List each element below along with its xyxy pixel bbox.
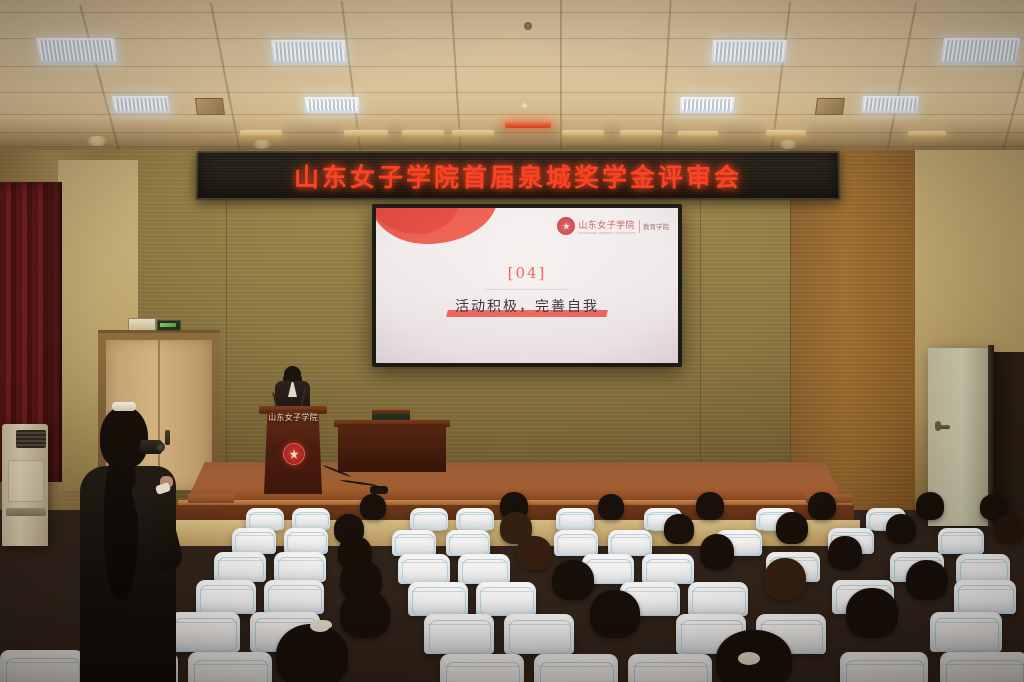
- sprinkler-head: [524, 22, 532, 30]
- slide-logo: 山东女子学院 SHANDONG WOMEN'S UNIVERSITY 教育学院: [557, 217, 669, 235]
- camera-operator: [78, 398, 182, 682]
- seat: [392, 530, 436, 556]
- ceiling-light-panel: [304, 97, 359, 113]
- seat: [232, 528, 276, 554]
- logo-org-name: 山东女子学院 SHANDONG WOMEN'S UNIVERSITY: [578, 218, 636, 235]
- logo-org-name-text: 山东女子学院: [578, 221, 634, 231]
- seat: [284, 528, 328, 554]
- attendee-head: [808, 492, 836, 520]
- logo-divider: [639, 220, 640, 233]
- seat: [534, 654, 618, 682]
- seat: [188, 652, 272, 682]
- ceiling-light-panel: [861, 96, 919, 113]
- attendee-head: [994, 514, 1024, 544]
- seat: [938, 528, 984, 554]
- attendee-head-foreground: [276, 624, 348, 682]
- ceiling: [0, 0, 1024, 158]
- ceiling-air-vent: [195, 98, 225, 115]
- attendee-head: [846, 588, 898, 638]
- seat: [440, 654, 524, 682]
- camera-operator-hair-tie: [112, 402, 136, 411]
- hair-accessory: [738, 652, 760, 665]
- ceiling-light-panel: [36, 38, 118, 63]
- seat: [476, 582, 536, 616]
- auditorium-scene: 山东女子学院首届泉城奖学金评审会 山东女子学院 SHANDONG WOMEN'S…: [0, 0, 1024, 682]
- slide-body: [04] 活动积极，完善自我: [376, 264, 678, 316]
- logo-department: 教育学院: [643, 221, 669, 231]
- seat: [446, 530, 490, 556]
- slide-divider: [485, 289, 569, 290]
- seat: [554, 530, 598, 556]
- ceiling-light-panel: [112, 96, 170, 113]
- sprinkler-head: [521, 102, 528, 109]
- seat: [456, 508, 494, 530]
- ceiling-light-panel: [711, 40, 787, 63]
- attendee-head: [340, 590, 390, 638]
- seat: [214, 552, 266, 582]
- attendee-head: [776, 512, 808, 544]
- seat: [688, 582, 748, 616]
- seat: [264, 580, 324, 614]
- seat: [642, 554, 694, 584]
- right-door-knob[interactable]: [935, 421, 941, 431]
- attendee-head: [916, 492, 944, 520]
- attendee-head: [516, 536, 552, 570]
- seat: [504, 614, 574, 654]
- seat: [940, 652, 1024, 682]
- seat: [246, 508, 284, 530]
- air-conditioner-panel: [8, 460, 44, 502]
- seat: [196, 580, 256, 614]
- floor-speaker-box: [370, 486, 388, 494]
- attendee-head: [590, 590, 640, 638]
- attendee-head: [598, 494, 624, 520]
- ceiling-light-panel: [940, 38, 1020, 63]
- attendee-head: [764, 558, 806, 600]
- seat: [410, 508, 448, 530]
- seat: [398, 554, 450, 584]
- attendee-head: [906, 560, 948, 600]
- camera-operator-hair: [100, 406, 148, 468]
- air-conditioner-grille-icon: [16, 430, 46, 448]
- seat: [274, 552, 326, 582]
- led-banner: 山东女子学院首届泉城奖学金评审会: [196, 151, 841, 200]
- slide-heading-wrap: 活动积极，完善自我: [445, 296, 609, 316]
- ceiling-light-panel: [679, 97, 734, 113]
- camera-lens-icon: [156, 442, 165, 452]
- slide-heading: 活动积极，完善自我: [455, 299, 599, 315]
- logo-org-name-en: SHANDONG WOMEN'S UNIVERSITY: [578, 231, 636, 235]
- projection-screen-frame: 山东女子学院 SHANDONG WOMEN'S UNIVERSITY 教育学院 …: [372, 204, 682, 367]
- camera-operator-hair-ponytail: [104, 450, 138, 600]
- attendee-head: [360, 494, 386, 520]
- seat: [840, 652, 928, 682]
- podium-seal-icon: [283, 443, 305, 465]
- attendee-head: [552, 560, 594, 600]
- attendee-head: [886, 514, 916, 544]
- seat: [458, 554, 510, 584]
- seat: [556, 508, 594, 530]
- air-conditioner-vent: [6, 508, 46, 516]
- attendee-head: [664, 514, 694, 544]
- seat: [408, 582, 468, 616]
- seat: [292, 508, 330, 530]
- ceiling-light-panel: [271, 40, 347, 63]
- projection-screen: 山东女子学院 SHANDONG WOMEN'S UNIVERSITY 教育学院 …: [376, 208, 678, 363]
- seat: [954, 580, 1016, 614]
- slide-section-number: [04]: [376, 264, 678, 282]
- seat: [608, 530, 652, 556]
- podium-institution-text: 山东女子学院: [266, 412, 320, 423]
- seat: [424, 614, 494, 654]
- seat: [0, 650, 84, 682]
- hair-accessory: [310, 620, 330, 632]
- ceiling-air-vent: [815, 98, 845, 115]
- led-banner-text: 山东女子学院首届泉城奖学金评审会: [294, 158, 742, 194]
- attendee-head: [700, 534, 734, 570]
- attendee-head: [828, 536, 862, 570]
- seat: [628, 654, 712, 682]
- stage-step-left: [188, 494, 234, 503]
- attendee-head: [696, 492, 724, 520]
- seat: [930, 612, 1002, 652]
- stage-table: [338, 424, 446, 472]
- university-seal-icon: [557, 217, 575, 235]
